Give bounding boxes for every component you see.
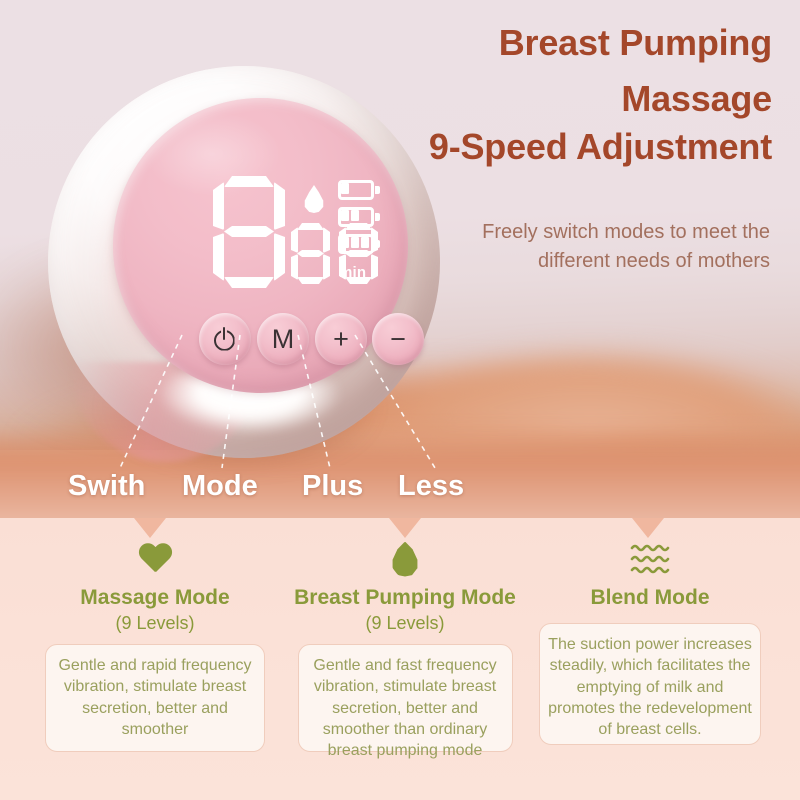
droplet-icon <box>280 538 530 580</box>
breast-pump-device: min M + − <box>42 62 446 464</box>
mode-description-blend: The suction power increases steadily, wh… <box>539 623 761 745</box>
product-infographic: Breast Pumping Massage 9-Speed Adjustmen… <box>0 0 800 800</box>
mode-button-label: M <box>272 326 295 353</box>
callout-less: Less <box>398 470 464 503</box>
mode-levels-pumping: (9 Levels) <box>280 613 530 634</box>
mode-title-massage: Massage Mode <box>30 586 280 609</box>
display-big-digit <box>213 176 285 288</box>
callout-plus: Plus <box>302 470 363 503</box>
plus-button[interactable]: + <box>315 313 367 365</box>
led-display: min <box>203 176 433 294</box>
mode-title-pumping: Breast Pumping Mode <box>280 586 530 609</box>
callout-mode: Mode <box>182 470 258 503</box>
mode-levels-massage: (9 Levels) <box>30 613 280 634</box>
minus-button-label: − <box>390 326 406 353</box>
headline-line-3: 9-Speed Adjustment <box>429 126 772 168</box>
mode-description-massage: Gentle and rapid frequency vibration, st… <box>45 644 265 752</box>
mode-title-blend: Blend Mode <box>525 586 775 609</box>
battery-indicator-group <box>338 180 386 264</box>
display-unit-label: min <box>339 264 366 281</box>
headline-line-2: Massage <box>621 78 772 120</box>
headline-subtitle: Freely switch modes to meet the differen… <box>470 218 770 276</box>
callout-label-group: Swith Mode Plus Less <box>0 470 800 518</box>
device-button-row: M + − <box>199 313 424 365</box>
panel-notch-2 <box>389 518 421 538</box>
panel-notch-1 <box>134 518 166 538</box>
battery-icon-level-1 <box>338 180 382 200</box>
mode-column-pumping: Breast Pumping Mode (9 Levels) Gentle an… <box>280 538 530 752</box>
plus-button-label: + <box>333 326 349 353</box>
device-faceplate: min M + − <box>113 98 408 393</box>
mode-column-massage: Massage Mode (9 Levels) Gentle and rapid… <box>30 538 280 752</box>
power-icon <box>214 328 237 351</box>
battery-icon-level-3 <box>338 234 382 254</box>
mode-description-pumping: Gentle and fast frequency vibration, sti… <box>298 644 513 752</box>
mode-column-blend: Blend Mode The suction power increases s… <box>525 538 775 745</box>
headline-line-1: Breast Pumping <box>499 22 772 64</box>
battery-icon-level-2 <box>338 207 382 227</box>
modes-panel: Massage Mode (9 Levels) Gentle and rapid… <box>0 518 800 800</box>
minus-button[interactable]: − <box>372 313 424 365</box>
heart-icon <box>30 538 280 580</box>
callout-switch: Swith <box>68 470 145 503</box>
waves-icon <box>525 538 775 580</box>
panel-notch-3 <box>632 518 664 538</box>
power-button[interactable] <box>199 313 251 365</box>
water-drop-icon <box>303 185 325 213</box>
mode-button[interactable]: M <box>257 313 309 365</box>
